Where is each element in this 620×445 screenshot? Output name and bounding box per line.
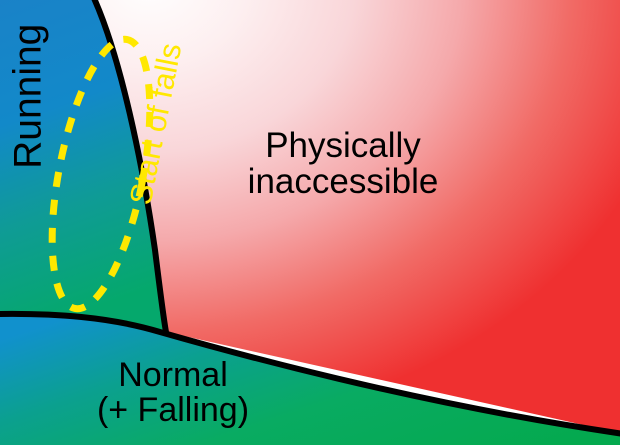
- region-label-normal-line2: (+ Falling): [78, 393, 268, 428]
- region-label-physically-inaccessible: Physically inaccessible: [228, 128, 458, 201]
- region-label-normal-falling: Normal (+ Falling): [78, 358, 268, 429]
- region-label-running: Running: [9, 21, 50, 171]
- region-label-physically-inaccessible-line2: inaccessible: [228, 164, 458, 200]
- region-label-normal-line1: Normal: [78, 358, 268, 393]
- regime-diagram: Running Physically inaccessible Normal (…: [0, 0, 620, 445]
- region-label-physically-inaccessible-line1: Physically: [228, 128, 458, 164]
